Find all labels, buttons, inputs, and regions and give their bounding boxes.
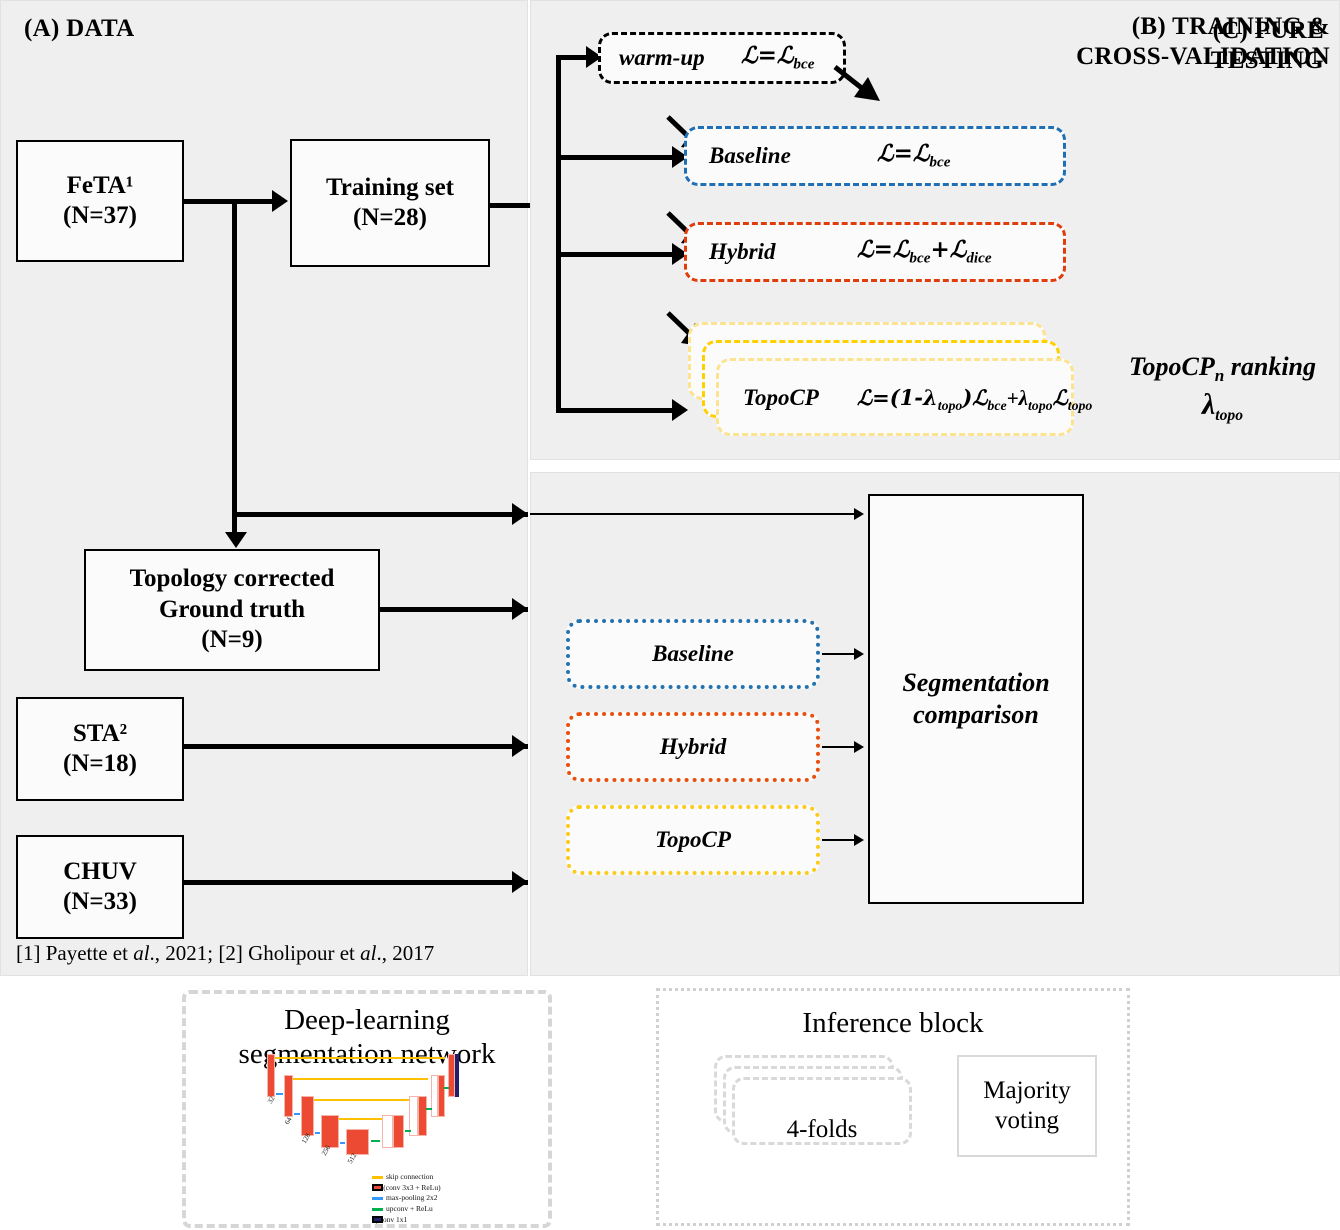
topocp-ranking-label: TopoCPn ranking λtopo: [1110, 352, 1335, 425]
arrow-groundtruth-to-testing: [380, 607, 528, 612]
channel-label-64: 64: [283, 1116, 293, 1126]
output-conv-1x1: [455, 1054, 459, 1097]
topocp-box: TopoCP ℒ=(1-λtopo)ℒbce+λtopoℒtopo: [716, 358, 1074, 436]
arrowhead-topocp-test: [854, 834, 864, 846]
encoder-block-128: [301, 1096, 314, 1136]
topocp-test-box: TopoCP: [566, 805, 820, 875]
decoder-block-128: [418, 1096, 427, 1136]
hybrid-train-loss: ℒ=ℒbce+ℒdice: [857, 236, 992, 268]
skip-connection-3: [305, 1099, 412, 1101]
decoder-block-256: [393, 1115, 404, 1148]
hybrid-test-label: Hybrid: [660, 734, 726, 760]
hybrid-test-box: Hybrid: [566, 712, 820, 782]
upconv-marker-3: [426, 1108, 432, 1110]
arrow-feta-to-training: [184, 199, 276, 204]
panel-a-title: (A) DATA: [24, 14, 134, 44]
unet-legend: skip connection 2 x (conv 3x3 + ReLu) ma…: [372, 1172, 441, 1225]
legend-swatch-upconv: [372, 1208, 383, 1211]
training-branch-bus: [556, 55, 561, 410]
upconv-marker-2: [405, 1130, 411, 1132]
arrowhead-comparison-top: [854, 508, 864, 520]
arrow-sta-to-testing: [184, 744, 528, 749]
topocp-train-loss: ℒ=(1-λtopo)ℒbce+λtopoℒtopo: [857, 385, 1092, 414]
arrowhead-groundtruth: [512, 598, 528, 620]
skip-connection-2: [288, 1078, 428, 1080]
decoder-block-256-skip: [382, 1115, 393, 1148]
arrowhead-ground-truth: [225, 532, 247, 548]
baseline-test-box: Baseline: [566, 619, 820, 689]
trunk-to-testing: [232, 512, 528, 517]
references-footnote: [1] Payette et al., 2021; [2] Gholipour …: [16, 941, 434, 966]
maxpool-marker-3: [315, 1132, 320, 1134]
folds-box: 4-folds: [732, 1077, 912, 1145]
encoder-block-512: [346, 1129, 369, 1155]
legend-item-conv: 2 x (conv 3x3 + ReLu): [372, 1183, 441, 1194]
upconv-marker-4: [444, 1087, 449, 1089]
decoder-block-32: [448, 1054, 455, 1097]
arrowhead-sta: [512, 735, 528, 757]
legend-swatch-upconv1x1: [372, 1216, 383, 1223]
encoder-block-256: [321, 1115, 339, 1148]
legend-swatch-maxpool: [372, 1197, 383, 1200]
decoder-block-64-skip: [431, 1075, 438, 1117]
legend-swatch-conv: [372, 1184, 383, 1191]
baseline-train-loss: ℒ=ℒbce: [877, 140, 950, 172]
training-set-box: Training set (N=28): [290, 139, 490, 267]
majority-voting-box: Majority voting: [957, 1055, 1097, 1157]
folds-label: 4-folds: [735, 1116, 909, 1144]
legend-item-upconv: upconv + ReLu: [372, 1204, 441, 1215]
inference-panel: Inference block 4-folds Majority voting: [656, 988, 1130, 1226]
upconv-marker-1: [371, 1140, 380, 1142]
sta-box: STA² (N=18): [16, 697, 184, 801]
topocp-train-label: TopoCP: [743, 385, 819, 411]
inference-title: Inference block: [659, 1007, 1127, 1041]
panel-c-title: (C) PURE TESTING: [1211, 16, 1324, 75]
thin-arrow-to-comparison: [530, 513, 860, 515]
legend-item-skip: skip connection: [372, 1172, 441, 1183]
hybrid-train-box: Hybrid ℒ=ℒbce+ℒdice: [684, 222, 1066, 282]
arrowhead-chuv: [512, 871, 528, 893]
baseline-test-label: Baseline: [652, 641, 734, 667]
topocp-test-label: TopoCP: [655, 827, 731, 853]
legend-item-upconv1x1: upconv 1x1: [372, 1215, 441, 1226]
maxpool-marker-2: [294, 1113, 300, 1115]
legend-swatch-skip: [372, 1176, 383, 1179]
hybrid-train-label: Hybrid: [709, 239, 775, 265]
legend-item-maxpool: max-pooling 2x2: [372, 1193, 441, 1204]
encoder-block-64: [284, 1075, 293, 1117]
arrow-chuv-to-testing: [184, 880, 528, 885]
baseline-train-label: Baseline: [709, 143, 791, 169]
skip-connection-1: [271, 1057, 445, 1059]
decoder-block-64: [438, 1075, 445, 1117]
arrowhead-training: [272, 190, 288, 212]
unet-architecture-diagram: 32 64 128 256 512: [258, 1052, 478, 1162]
maxpool-marker-1: [276, 1093, 283, 1095]
arrowhead-baseline-test: [854, 648, 864, 660]
ground-truth-box: Topology corrected Ground truth (N=9): [84, 549, 380, 671]
arrowhead-hybrid-test: [854, 741, 864, 753]
segmentation-comparison-box: Segmentation comparison: [868, 494, 1084, 904]
baseline-train-box: Baseline ℒ=ℒbce: [684, 126, 1066, 186]
feta-trunk-vertical: [232, 199, 237, 517]
chuv-box: CHUV (N=33): [16, 835, 184, 939]
encoder-block-32: [267, 1054, 275, 1097]
arrowhead-trunk-testing: [512, 503, 528, 525]
maxpool-marker-4: [340, 1142, 345, 1144]
feta-box: FeTA¹ (N=37): [16, 140, 184, 262]
